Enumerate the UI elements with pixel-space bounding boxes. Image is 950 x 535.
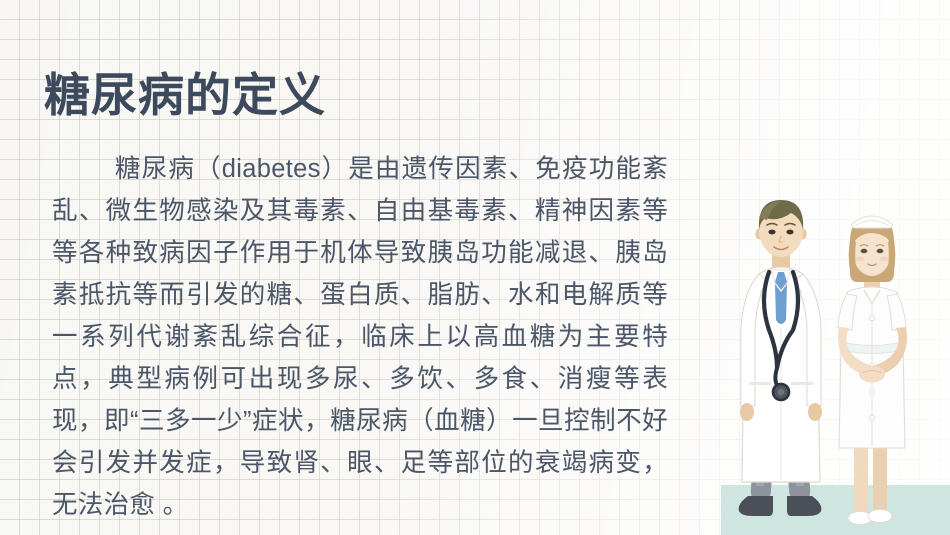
slide-canvas: 糖尿病的定义 糖尿病（diabetes）是由遗传因素、免疫功能紊乱、微生物感染及…	[0, 0, 950, 535]
page-title: 糖尿病的定义	[44, 69, 326, 122]
nurse-figure	[838, 216, 907, 525]
body-paragraph: 糖尿病（diabetes）是由遗传因素、免疫功能紊乱、微生物感染及其毒素、自由基…	[52, 148, 668, 526]
doctor-and-nurse-illustration	[721, 196, 950, 535]
doctor-figure	[739, 200, 822, 516]
body-paragraph-text: 糖尿病（diabetes）是由遗传因素、免疫功能紊乱、微生物感染及其毒素、自由基…	[52, 155, 668, 519]
figures-vector	[721, 196, 950, 535]
